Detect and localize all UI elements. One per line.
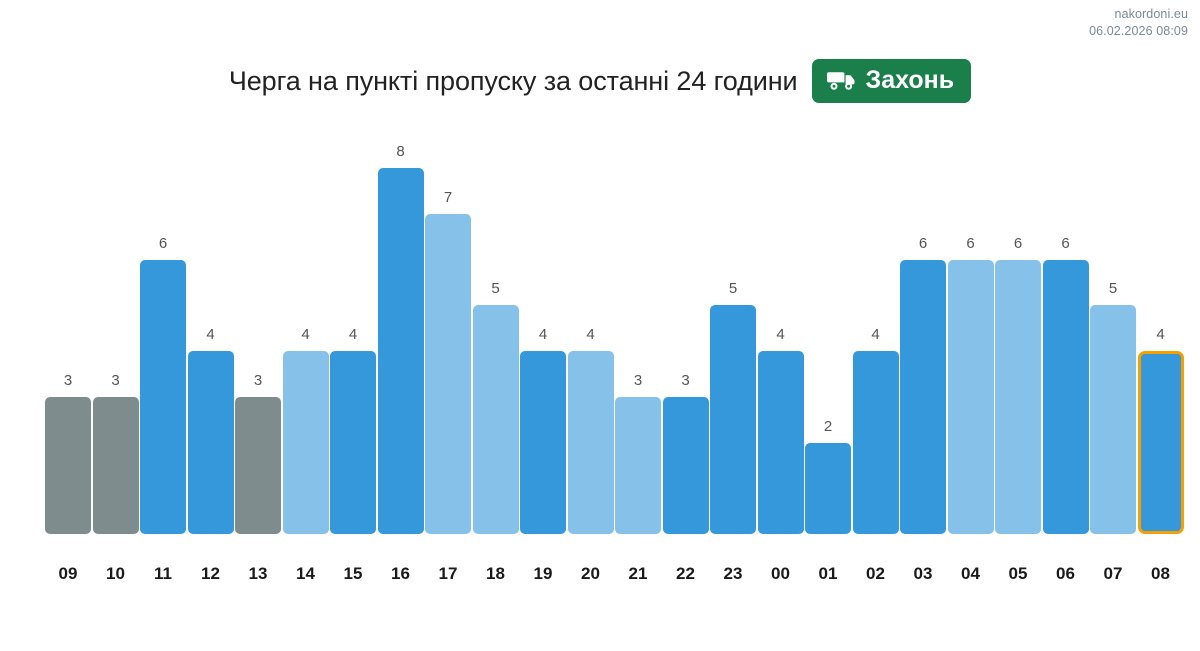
bar-slot: 4: [330, 130, 376, 534]
bar-value-label: 6: [140, 236, 186, 251]
x-axis-tick-label: 03: [900, 565, 946, 582]
truck-icon: [827, 70, 857, 92]
bar-slot: 6: [948, 130, 994, 534]
site-name: nakordoni.eu: [1089, 6, 1188, 23]
bar-slot: 7: [425, 130, 471, 534]
bar-slot: 3: [235, 130, 281, 534]
bar-slot: 3: [615, 130, 661, 534]
x-axis-tick-label: 01: [805, 565, 851, 582]
bar-slot: 4: [758, 130, 804, 534]
bar-value-label: 3: [663, 373, 709, 388]
bar-value-label: 4: [853, 327, 899, 342]
timestamp: 06.02.2026 08:09: [1089, 23, 1188, 40]
bar-slot: 2: [805, 130, 851, 534]
chart-plot-area: 336434487544335424666654: [45, 130, 1177, 534]
bar-slot: 5: [473, 130, 519, 534]
bar-slot: 4: [1138, 130, 1184, 534]
bar[interactable]: [568, 351, 614, 534]
x-axis-tick-label: 06: [1043, 565, 1089, 582]
x-axis-tick-label: 08: [1138, 565, 1184, 582]
bar-value-label: 5: [473, 281, 519, 296]
x-axis-tick-label: 16: [378, 565, 424, 582]
bar-highlighted[interactable]: [1138, 351, 1184, 534]
x-axis-tick-label: 04: [948, 565, 994, 582]
bar-value-label: 4: [188, 327, 234, 342]
bar-value-label: 4: [330, 327, 376, 342]
checkpoint-badge-label: Захонь: [866, 68, 955, 93]
bar[interactable]: [283, 351, 329, 534]
bar-slot: 5: [710, 130, 756, 534]
bar[interactable]: [425, 214, 471, 534]
bar-slot: 4: [520, 130, 566, 534]
bar[interactable]: [758, 351, 804, 534]
x-axis-tick-label: 19: [520, 565, 566, 582]
checkpoint-badge[interactable]: Захонь: [812, 59, 972, 103]
bar[interactable]: [615, 397, 661, 534]
bar-slot: 3: [93, 130, 139, 534]
bar-value-label: 4: [568, 327, 614, 342]
bar-slot: 5: [1090, 130, 1136, 534]
bar[interactable]: [1043, 260, 1089, 535]
bar-value-label: 3: [45, 373, 91, 388]
bar-value-label: 6: [995, 236, 1041, 251]
bar-value-label: 4: [283, 327, 329, 342]
bar[interactable]: [473, 305, 519, 534]
x-axis-tick-label: 00: [758, 565, 804, 582]
bar-value-label: 4: [758, 327, 804, 342]
bar-value-label: 6: [1043, 236, 1089, 251]
x-axis-tick-label: 17: [425, 565, 471, 582]
x-axis-tick-label: 12: [188, 565, 234, 582]
x-axis-tick-label: 21: [615, 565, 661, 582]
bar[interactable]: [330, 351, 376, 534]
bar-slot: 4: [188, 130, 234, 534]
bar-series: 336434487544335424666654: [45, 130, 1177, 534]
bar[interactable]: [45, 397, 91, 534]
bar-value-label: 6: [948, 236, 994, 251]
bar[interactable]: [853, 351, 899, 534]
x-axis-tick-label: 23: [710, 565, 756, 582]
bar-slot: 6: [900, 130, 946, 534]
bar-value-label: 4: [520, 327, 566, 342]
bar-value-label: 3: [93, 373, 139, 388]
x-axis-tick-label: 10: [93, 565, 139, 582]
bar[interactable]: [520, 351, 566, 534]
x-axis-tick-label: 14: [283, 565, 329, 582]
bar-value-label: 7: [425, 190, 471, 205]
bar-value-label: 5: [1090, 281, 1136, 296]
watermark: nakordoni.eu 06.02.2026 08:09: [1089, 6, 1188, 40]
bar[interactable]: [188, 351, 234, 534]
bar-slot: 4: [283, 130, 329, 534]
page-title: Черга на пункті пропуску за останні 24 г…: [229, 66, 798, 97]
bar-slot: 6: [140, 130, 186, 534]
bar[interactable]: [378, 168, 424, 534]
bar[interactable]: [235, 397, 281, 534]
bar[interactable]: [710, 305, 756, 534]
bar-slot: 6: [995, 130, 1041, 534]
x-axis-tick-label: 02: [853, 565, 899, 582]
bar-slot: 4: [853, 130, 899, 534]
chart-header: Черга на пункті пропуску за останні 24 г…: [0, 55, 1200, 107]
x-axis-tick-label: 05: [995, 565, 1041, 582]
bar-slot: 3: [663, 130, 709, 534]
x-axis-tick-label: 09: [45, 565, 91, 582]
bar-slot: 6: [1043, 130, 1089, 534]
bar[interactable]: [93, 397, 139, 534]
x-axis-tick-label: 20: [568, 565, 614, 582]
bar-slot: 8: [378, 130, 424, 534]
bar[interactable]: [663, 397, 709, 534]
bar[interactable]: [900, 260, 946, 535]
bar[interactable]: [995, 260, 1041, 535]
bar[interactable]: [805, 443, 851, 535]
x-axis-tick-label: 13: [235, 565, 281, 582]
bar[interactable]: [948, 260, 994, 535]
x-axis-tick-label: 11: [140, 565, 186, 582]
bar-slot: 4: [568, 130, 614, 534]
x-axis: 0910111213141516171819202122230001020304…: [45, 565, 1177, 595]
bar-value-label: 3: [235, 373, 281, 388]
bar-value-label: 4: [1138, 327, 1184, 342]
x-axis-tick-label: 22: [663, 565, 709, 582]
x-axis-tick-label: 07: [1090, 565, 1136, 582]
bar-value-label: 5: [710, 281, 756, 296]
bar[interactable]: [1090, 305, 1136, 534]
bar-value-label: 2: [805, 419, 851, 434]
x-axis-tick-label: 15: [330, 565, 376, 582]
bar-value-label: 6: [900, 236, 946, 251]
x-axis-tick-label: 18: [473, 565, 519, 582]
bar-slot: 3: [45, 130, 91, 534]
bar-value-label: 8: [378, 144, 424, 159]
bar[interactable]: [140, 260, 186, 535]
bar-value-label: 3: [615, 373, 661, 388]
